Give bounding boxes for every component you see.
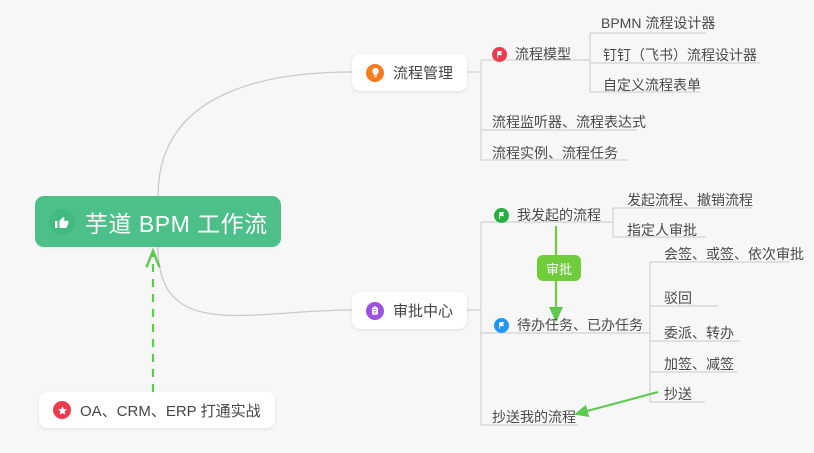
node-delegate-transfer[interactable]: 委派、转办 <box>664 323 734 348</box>
node-delegate-transfer-label: 委派、转办 <box>664 323 734 343</box>
arrow-cc-to-ccme <box>576 392 658 414</box>
node-listener-expression-label: 流程监听器、流程表达式 <box>492 112 646 132</box>
node-bpmn-designer[interactable]: BPMN 流程设计器 <box>601 13 715 38</box>
node-todo-done-task-label: 待办任务、已办任务 <box>517 315 643 335</box>
node-cc-to-me-label: 抄送我的流程 <box>492 407 576 427</box>
node-my-started-process[interactable]: 我发起的流程 <box>494 205 601 230</box>
node-my-started-process-label: 我发起的流程 <box>517 205 601 225</box>
node-custom-process-form-label: 自定义流程表单 <box>603 75 701 95</box>
annotation-approval-tag-label: 审批 <box>546 259 572 278</box>
node-process-management[interactable]: 流程管理 <box>352 54 467 91</box>
edge-root-to-approval-center <box>158 247 352 315</box>
node-countersign[interactable]: 会签、或签、依次审批 <box>664 244 804 269</box>
node-process-model[interactable]: 流程模型 <box>492 44 571 69</box>
flag-icon <box>494 318 509 333</box>
node-add-remove-sign-label: 加签、减签 <box>664 354 734 374</box>
node-assignee-approval-label: 指定人审批 <box>627 220 697 240</box>
edge-root-to-process-management <box>158 72 352 196</box>
node-cc-label: 抄送 <box>664 384 692 404</box>
node-custom-process-form[interactable]: 自定义流程表单 <box>603 75 701 100</box>
root-node[interactable]: 芋道 BPM 工作流 <box>35 196 281 247</box>
node-dingtalk-feishu-designer[interactable]: 钉钉（飞书）流程设计器 <box>603 45 757 70</box>
node-reject[interactable]: 驳回 <box>664 288 692 313</box>
node-cc-to-me[interactable]: 抄送我的流程 <box>492 407 576 432</box>
node-cc[interactable]: 抄送 <box>664 384 692 409</box>
node-approval-center-label: 审批中心 <box>393 300 453 321</box>
mindmap-canvas: 芋道 BPM 工作流 流程管理 流程模型 BPMN 流程设计器 钉钉（飞书）流程… <box>0 0 814 453</box>
node-countersign-label: 会签、或签、依次审批 <box>664 244 804 264</box>
annotation-approval-tag: 审批 <box>537 255 581 281</box>
node-process-management-label: 流程管理 <box>393 62 453 83</box>
node-process-model-label: 流程模型 <box>515 44 571 64</box>
root-label: 芋道 BPM 工作流 <box>85 205 268 239</box>
node-oa-crm-erp[interactable]: OA、CRM、ERP 打通实战 <box>39 392 275 428</box>
node-dingtalk-feishu-designer-label: 钉钉（飞书）流程设计器 <box>603 45 757 65</box>
node-assignee-approval[interactable]: 指定人审批 <box>627 220 697 245</box>
node-instance-task[interactable]: 流程实例、流程任务 <box>492 143 618 168</box>
node-listener-expression[interactable]: 流程监听器、流程表达式 <box>492 112 646 137</box>
node-add-remove-sign[interactable]: 加签、减签 <box>664 354 734 379</box>
clipboard-icon <box>366 302 384 320</box>
node-start-cancel-process[interactable]: 发起流程、撤销流程 <box>627 190 753 215</box>
node-reject-label: 驳回 <box>664 288 692 308</box>
lightbulb-icon <box>366 64 384 82</box>
node-bpmn-designer-label: BPMN 流程设计器 <box>601 13 715 33</box>
star-icon <box>53 401 71 419</box>
node-approval-center[interactable]: 审批中心 <box>352 292 467 329</box>
node-instance-task-label: 流程实例、流程任务 <box>492 143 618 163</box>
flag-icon <box>494 208 509 223</box>
node-oa-crm-erp-label: OA、CRM、ERP 打通实战 <box>80 400 261 421</box>
thumbs-up-icon <box>49 209 75 235</box>
node-start-cancel-process-label: 发起流程、撤销流程 <box>627 190 753 210</box>
node-todo-done-task[interactable]: 待办任务、已办任务 <box>494 315 643 340</box>
flag-icon <box>492 47 507 62</box>
